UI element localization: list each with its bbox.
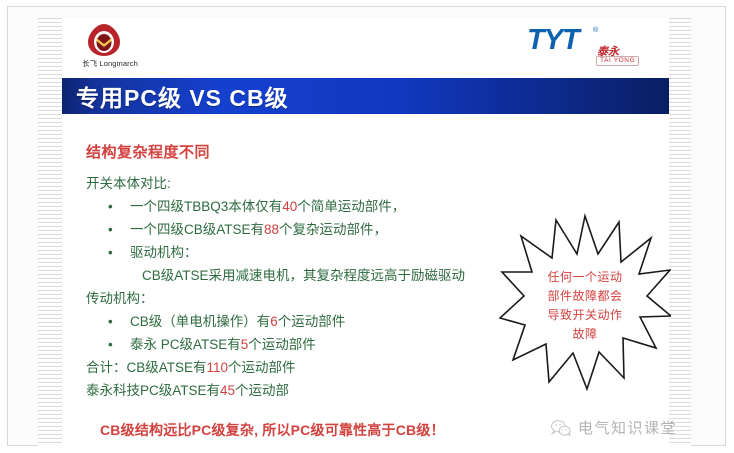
content-line: 传动机构：: [84, 287, 504, 310]
slide-title-bar: 专用PC级 VS CB级: [62, 78, 669, 114]
content-text-pre: 合计：CB级ATSE有: [86, 360, 207, 375]
content-text-post: 个运动部: [235, 383, 289, 398]
starburst-text-line: 部件故障都会: [499, 287, 671, 306]
bullet-marker-icon: •: [108, 241, 113, 264]
content-text-post: 个运动部件: [228, 360, 296, 375]
starburst-text-line: 任何一个运动: [499, 268, 671, 287]
page-title: 专用PC级 VS CB级: [76, 79, 289, 113]
longmarch-logo: 长飞 Longmarch: [71, 23, 149, 75]
highlighted-number: 110: [207, 360, 229, 375]
longmarch-mark-icon: [87, 23, 121, 57]
content-line: •驱动机构：: [84, 241, 504, 264]
tyt-pinyin: TAI YONG: [596, 56, 639, 66]
watermark-label: 电气知识课堂: [578, 417, 677, 438]
conclusion-text: CB级结构远比PC级复杂, 所以PC级可靠性高于CB级！: [100, 420, 445, 440]
content-text-post: 个运动部件: [248, 337, 316, 352]
content-line: •泰永 PC级ATSE有5个运动部件: [84, 333, 504, 356]
bullet-marker-icon: •: [108, 333, 113, 356]
highlighted-number: 6: [270, 314, 278, 329]
content-text-post: 个复杂运动部件，: [279, 222, 387, 237]
tyt-logo: TYT ® 泰永 TAI YONG: [527, 26, 655, 70]
content-text-pre: 一个四级TBBQ3本体仅有: [130, 199, 282, 214]
starburst-text: 任何一个运动部件故障都会导致开关动作故障: [499, 268, 671, 344]
starburst-text-line: 故障: [499, 325, 671, 344]
content-line: 开关本体对比:: [84, 172, 504, 195]
scan-stripe-left: [38, 18, 62, 446]
tyt-wordmark: TYT: [527, 26, 579, 55]
bullet-marker-icon: •: [108, 310, 113, 333]
content-line: •一个四级CB级ATSE有88个复杂运动部件，: [84, 218, 504, 241]
highlighted-number: 45: [220, 383, 235, 398]
highlighted-number: 88: [264, 222, 279, 237]
slide-header: 长飞 Longmarch TYT ® 泰永 TAI YONG: [62, 18, 669, 78]
content-text-post: 个运动部件: [278, 314, 346, 329]
bullet-marker-icon: •: [108, 218, 113, 241]
slide-root: 长飞 Longmarch TYT ® 泰永 TAI YONG 专用PC级 VS …: [0, 0, 734, 453]
content-line: •CB级（单电机操作）有6个运动部件: [84, 310, 504, 333]
wechat-icon: [550, 419, 572, 437]
content-line: 泰永科技PC级ATSE有45个运动部: [84, 379, 504, 402]
content-text-pre: 泰永 PC级ATSE有: [130, 337, 241, 352]
scan-stripe-right: [669, 18, 691, 446]
content-text-pre: 泰永科技PC级ATSE有: [86, 383, 220, 398]
slide-canvas: 长飞 Longmarch TYT ® 泰永 TAI YONG 专用PC级 VS …: [62, 18, 669, 448]
section-subtitle: 结构复杂程度不同: [86, 141, 210, 162]
tyt-registered-mark: ®: [593, 27, 598, 34]
content-text: 开关本体对比:: [86, 176, 171, 191]
watermark: 电气知识课堂: [550, 417, 677, 438]
longmarch-logo-text: 长飞 Longmarch: [71, 58, 149, 69]
content-list: 开关本体对比:•一个四级TBBQ3本体仅有40个简单运动部件，•一个四级CB级A…: [84, 172, 504, 402]
content-text-pre: 一个四级CB级ATSE有: [130, 222, 264, 237]
content-text: CB级ATSE采用减速电机，其复杂程度远高于励磁驱动: [142, 268, 465, 283]
content-text: 传动机构：: [86, 291, 154, 306]
content-line: 合计：CB级ATSE有110个运动部件: [84, 356, 504, 379]
starburst-callout: 任何一个运动部件故障都会导致开关动作故障: [499, 212, 671, 392]
content-text-pre: CB级（单电机操作）有: [130, 314, 270, 329]
bullet-marker-icon: •: [108, 195, 113, 218]
highlighted-number: 40: [282, 199, 297, 214]
starburst-text-line: 导致开关动作: [499, 306, 671, 325]
content-text: 驱动机构：: [130, 245, 198, 260]
slide-body: 结构复杂程度不同 开关本体对比:•一个四级TBBQ3本体仅有40个简单运动部件，…: [62, 114, 669, 448]
content-text-post: 个简单运动部件，: [297, 199, 405, 214]
content-line: CB级ATSE采用减速电机，其复杂程度远高于励磁驱动: [84, 264, 504, 287]
content-line: •一个四级TBBQ3本体仅有40个简单运动部件，: [84, 195, 504, 218]
